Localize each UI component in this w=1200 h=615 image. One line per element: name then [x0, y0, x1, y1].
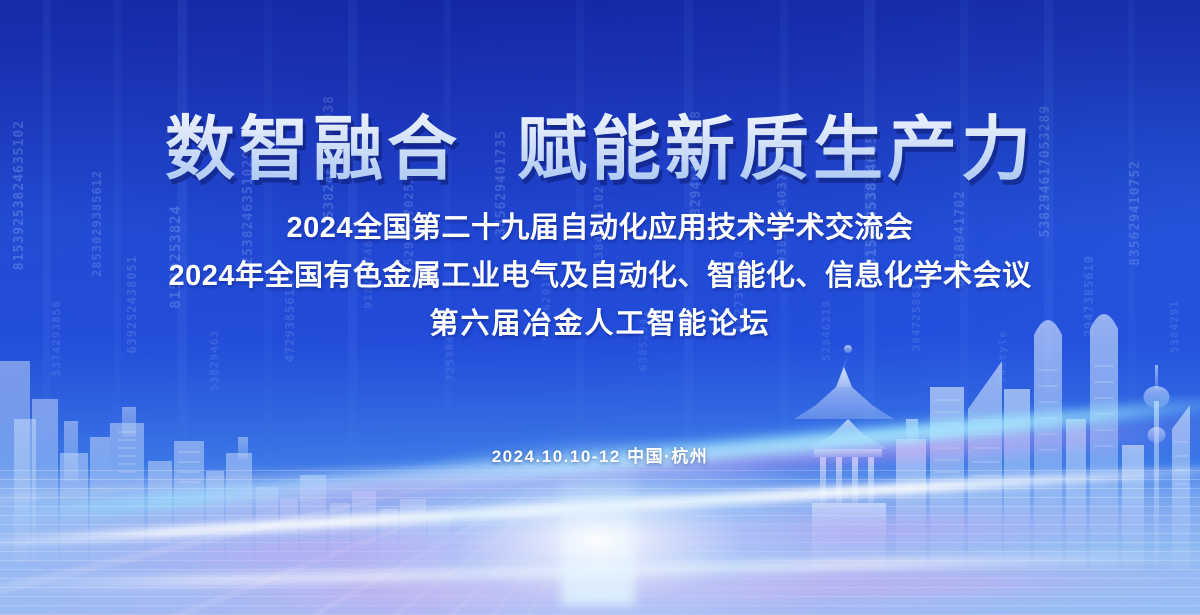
subtitle-line-2: 2024年全国有色金属工业电气及自动化、智能化、信息化学术会议	[0, 252, 1200, 294]
subtitle-line-3: 第六届冶金人工智能论坛	[0, 300, 1200, 342]
main-title-part1: 数智融合	[165, 110, 461, 188]
main-title: 数智融合赋能新质生产力	[0, 0, 1200, 188]
banner-text-block: 数智融合赋能新质生产力 2024全国第二十九届自动化应用技术学术交流会 2024…	[0, 0, 1200, 467]
conference-banner: 8153925382463510253742938562853029385612…	[0, 0, 1200, 615]
date-location-label: 2024.10.10-12 中国·杭州	[0, 442, 1200, 467]
main-title-part2: 赋能新质生产力	[517, 110, 1035, 188]
subtitle-line-1: 2024全国第二十九届自动化应用技术学术交流会	[0, 204, 1200, 246]
subtitle-group: 2024全国第二十九届自动化应用技术学术交流会 2024年全国有色金属工业电气及…	[0, 204, 1200, 342]
